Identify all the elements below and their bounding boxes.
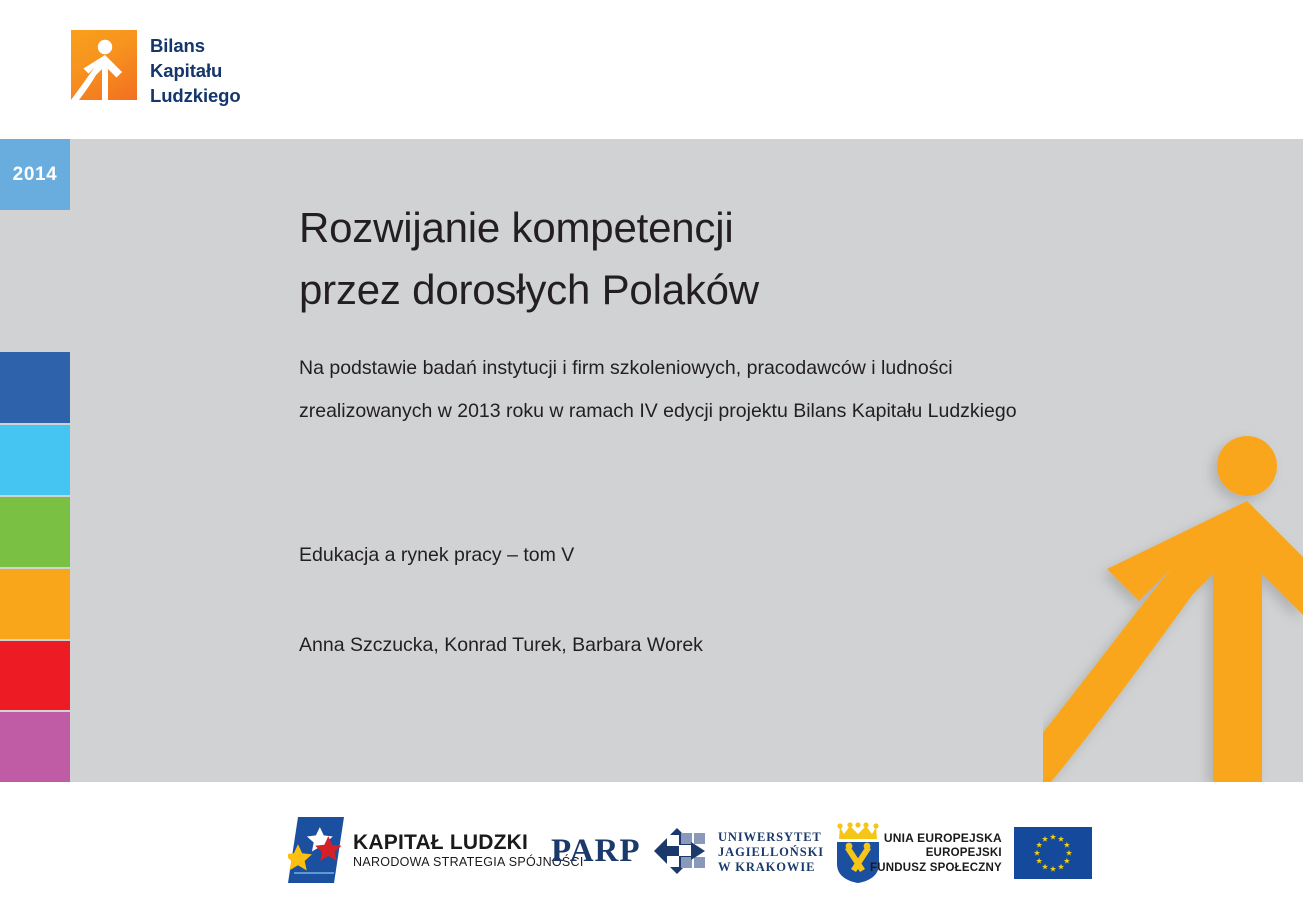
kapital-ludzki-logo: KAPITAŁ LUDZKI NARODOWA STRATEGIA SPÓJNO… (288, 817, 584, 883)
ue-line-3: FUNDUSZ SPOŁECZNY (870, 861, 1002, 876)
block-gray-c3-r2 (145, 212, 215, 281)
unia-europejska-logo: UNIA EUROPEJSKA EUROPEJSKI FUNDUSZ SPOŁE… (870, 827, 1092, 879)
block-gray-c1-r2 (0, 212, 70, 281)
cover-panel: 2014 Rozwijanie kompetencji przez dorosł… (0, 139, 1303, 782)
ue-line-1: UNIA EUROPEJSKA (870, 831, 1002, 846)
block-gray-c3-r5 (145, 569, 215, 639)
block-gray-c2-r2 (72, 212, 143, 281)
brand-name: Bilans Kapitału Ludzkiego (150, 30, 241, 108)
block-green (0, 497, 70, 567)
authors-label: Anna Szczucka, Konrad Turek, Barbara Wor… (299, 634, 703, 657)
block-gray-c1-r3 (0, 283, 70, 350)
color-block-grid: 2014 (0, 139, 216, 782)
arrow-person-icon (71, 30, 137, 100)
brand-line-2: Kapitału (150, 58, 241, 83)
parp-title: PARP (551, 833, 641, 870)
title-line-1: Rozwijanie kompetencji (299, 197, 1199, 259)
block-gray-c2-r6 (72, 641, 143, 710)
title-line-2: przez dorosłych Polaków (299, 259, 1199, 321)
arrow-person-figure (1043, 419, 1303, 782)
kapital-ludzki-text: KAPITAŁ LUDZKI NARODOWA STRATEGIA SPÓJNO… (353, 831, 584, 870)
block-gray-c2-r4 (72, 352, 215, 567)
uj-line-2: JAGIELLOŃSKI (718, 845, 824, 860)
subtitle-line-1: Na podstawie badań instytucji i firm szk… (299, 347, 1179, 390)
block-gray-c3-r7 (145, 712, 215, 782)
ue-line-2: EUROPEJSKI (870, 846, 1002, 861)
block-gray-c2-r7 (72, 712, 143, 782)
series-label: Edukacja a rynek pracy – tom V (299, 544, 574, 567)
parp-diamond-icon (653, 827, 705, 875)
brand-logo: Bilans Kapitału Ludzkiego (71, 30, 241, 108)
page-title: Rozwijanie kompetencji przez dorosłych P… (299, 197, 1199, 321)
brand-line-1: Bilans (150, 33, 241, 58)
block-dark-blue (0, 352, 70, 423)
kapital-ludzki-title: KAPITAŁ LUDZKI (353, 831, 584, 854)
block-magenta (0, 712, 70, 782)
footer-logos: KAPITAŁ LUDZKI NARODOWA STRATEGIA SPÓJNO… (0, 805, 1303, 905)
ue-text: UNIA EUROPEJSKA EUROPEJSKI FUNDUSZ SPOŁE… (870, 831, 1002, 876)
block-gray-c3-r6 (145, 641, 215, 710)
block-gray-c3-r3 (145, 283, 215, 350)
brand-line-3: Ludzkiego (150, 83, 241, 108)
block-red (0, 641, 70, 710)
stars-icon (288, 817, 344, 883)
uj-line-3: W KRAKOWIE (718, 860, 824, 875)
uj-text: UNIWERSYTET JAGIELLOŃSKI W KRAKOWIE (718, 830, 824, 875)
block-cyan (0, 425, 70, 495)
block-gray-c2-r1 (72, 139, 143, 210)
eu-flag-icon (1014, 827, 1092, 879)
block-orange (0, 569, 70, 639)
uniwersytet-jagiellonski-logo: UNIWERSYTET JAGIELLOŃSKI W KRAKOWIE (718, 821, 884, 883)
block-gray-c2-r3 (72, 283, 143, 350)
block-gray-c3-r1 (145, 139, 215, 210)
uj-line-1: UNIWERSYTET (718, 830, 824, 845)
parp-logo: PARP (551, 827, 705, 875)
block-gray-c2-r5 (72, 569, 143, 639)
kapital-ludzki-subtitle: NARODOWA STRATEGIA SPÓJNOŚCI (353, 854, 584, 870)
year-badge-label: 2014 (0, 139, 70, 210)
